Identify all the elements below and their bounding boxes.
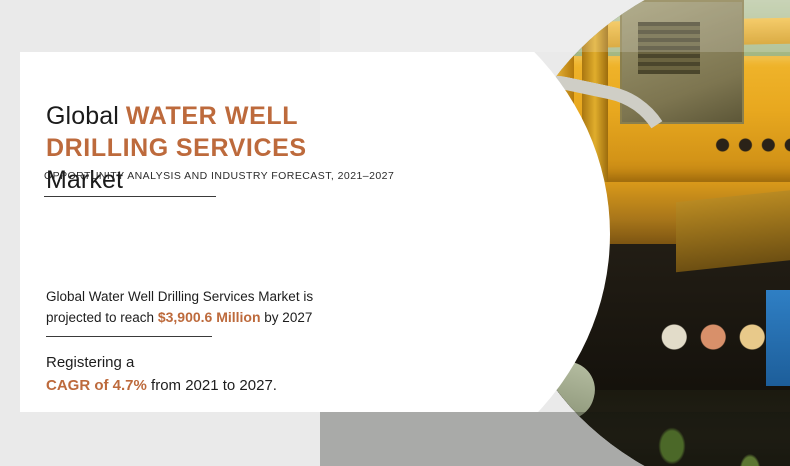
title-word-global: Global [46,102,119,130]
subtitle: OPPORTUNITY ANALYSIS AND INDUSTRY FORECA… [44,170,384,182]
cagr-value: CAGR of 4.7% [46,377,147,394]
stat-value: $3,900.6 Million [158,309,261,325]
cagr-lead-text: Registering a [46,352,376,374]
stat-trail-text: by 2027 [261,310,313,325]
text-content: Global WATER WELL DRILLING SERVICES Mark… [20,52,380,412]
cagr-line: CAGR of 4.7% from 2021 to 2027. [46,374,376,398]
divider-top [44,196,216,197]
divider-bottom [46,336,212,337]
title-accent-secondary: SERVICES [176,134,307,162]
cagr-trail-text: from 2021 to 2027. [151,377,277,394]
worker-shadow [340,430,580,466]
infographic-banner: Global WATER WELL DRILLING SERVICES Mark… [0,0,790,466]
market-value-statement: Global Water Well Drilling Services Mark… [46,286,366,328]
cagr-statement: Registering a CAGR of 4.7% from 2021 to … [46,352,376,398]
